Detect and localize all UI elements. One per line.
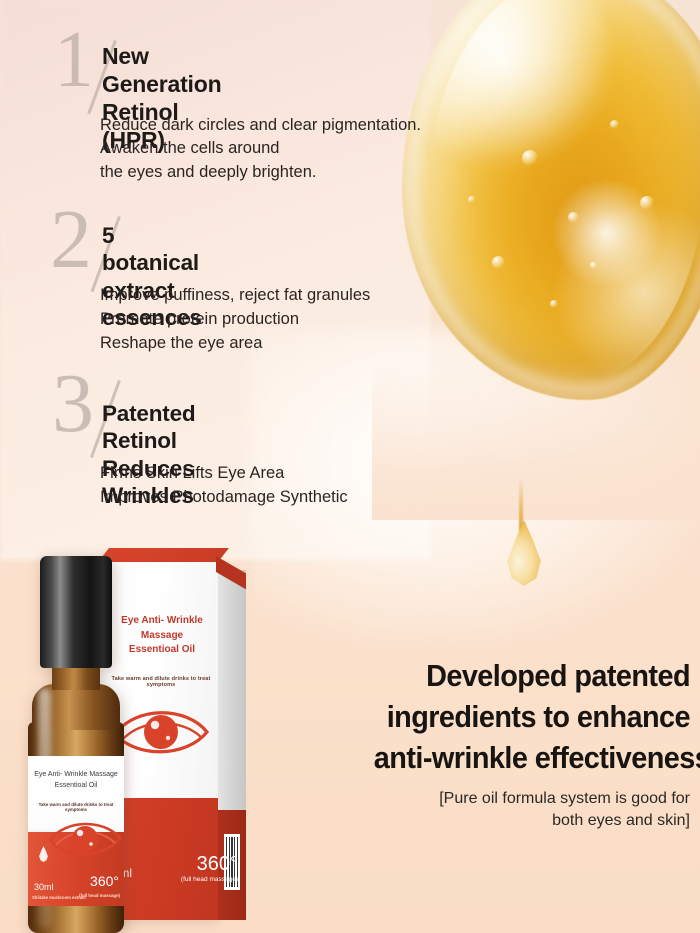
- feature-body-line: Awaken the cells around: [100, 137, 421, 160]
- bottle-volume: 30ml: [34, 882, 54, 892]
- bottle-label-title-line: Essentioal Oil: [31, 781, 121, 792]
- eye-graphic-icon: [48, 814, 122, 862]
- oil-photo-fade: [372, 360, 700, 520]
- bottle-degree-sub: (full head massage): [79, 893, 120, 898]
- headline-line: ingredients to enhance: [374, 697, 690, 738]
- oil-bubble-icon: [568, 212, 579, 223]
- headline-line: anti-wrinkle effectiveness: [374, 738, 690, 779]
- oil-bubble-icon: [468, 196, 475, 203]
- feature-title-line: Patented Retinol: [102, 400, 195, 455]
- product-box-degree: 360°: [181, 854, 238, 874]
- bottle-label: Eye Anti- Wrinkle Massage Essentioal Oil…: [28, 756, 124, 906]
- product-box-degree-sub: (full head massage): [181, 876, 238, 883]
- bottle-degree: 360°: [90, 874, 119, 888]
- feature-body-line: Improve puffiness, reject fat granules: [100, 284, 370, 308]
- oil-bubble-icon: [640, 196, 654, 210]
- headline-subtext: [Pure oil formula system is good for bot…: [350, 788, 690, 832]
- feature-body-line: Improves Photodamage Synthetic: [100, 486, 348, 510]
- bottle-volume-sub: Shiitake mushroom extract: [32, 895, 86, 900]
- bottle-label-title: Eye Anti- Wrinkle Massage Essentioal Oil: [31, 770, 121, 791]
- feature-body-3: Firms Skin Lifts Eye Area Improves Photo…: [100, 462, 348, 510]
- feature-number-1: 1: [54, 26, 94, 94]
- oil-bubble-icon: [590, 262, 597, 269]
- feature-number-2: 2: [50, 204, 92, 275]
- feature-body-line: Reshape the eye area: [100, 332, 370, 356]
- oil-bubble-icon: [522, 150, 538, 166]
- feature-number-3: 3: [52, 368, 94, 439]
- bottle-label-note: Take warm and dilute drinks to treat sym…: [31, 802, 121, 812]
- bottle-label-title-line: Eye Anti- Wrinkle Massage: [31, 770, 121, 781]
- oil-bubble-icon: [550, 300, 558, 308]
- oil-bubble-icon: [492, 256, 505, 269]
- product-bottle: Eye Anti- Wrinkle Massage Essentioal Oil…: [24, 556, 128, 933]
- headline-subtext-line: [Pure oil formula system is good for: [350, 788, 690, 810]
- headline-block: Developed patented ingredients to enhanc…: [350, 656, 690, 832]
- feature-body-line: Reduce dark circles and clear pigmentati…: [100, 114, 421, 137]
- feature-body-1: Reduce dark circles and clear pigmentati…: [100, 114, 421, 184]
- oil-bubble-icon: [610, 120, 619, 129]
- feature-body-2: Improve puffiness, reject fat granules P…: [100, 284, 370, 355]
- feature-body-line: the eyes and deeply brighten.: [100, 161, 421, 184]
- feature-title-line: New Generation: [102, 42, 221, 98]
- product-box-degree-block: 360° (full head massage): [181, 854, 238, 883]
- oil-blob-highlight-rim: [408, 0, 700, 394]
- headline-subtext-line: both eyes and skin]: [350, 810, 690, 832]
- oil-droplet-photo: [372, 0, 700, 520]
- bottle-black-cap: [40, 556, 112, 668]
- headline-line: Developed patented: [374, 656, 690, 697]
- feature-body-line: Firms Skin Lifts Eye Area: [100, 462, 348, 486]
- feature-body-line: Promote protein production: [100, 308, 370, 332]
